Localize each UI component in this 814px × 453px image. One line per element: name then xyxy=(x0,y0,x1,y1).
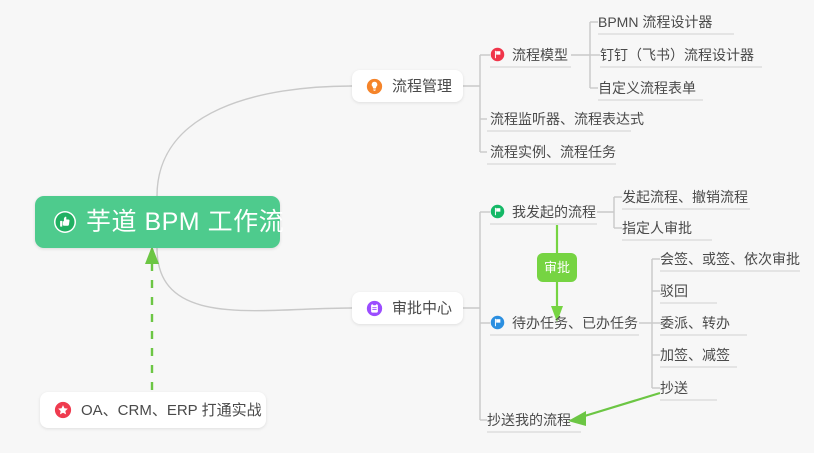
mindmap-canvas: 芋道 BPM 工作流 流程管理 流程模型 BPMN 流程设计器 钉钉（飞书）流程 xyxy=(0,0,814,453)
link-root-to-approval-center xyxy=(157,248,352,311)
node-cc-to-me-process[interactable]: 抄送我的流程 xyxy=(487,411,571,432)
node-label: 自定义流程表单 xyxy=(598,81,696,95)
node-cc[interactable]: 抄送 xyxy=(660,379,688,400)
node-bpmn-designer[interactable]: BPMN 流程设计器 xyxy=(598,13,712,34)
node-add-remove-sign[interactable]: 加签、减签 xyxy=(660,346,730,367)
root-label: 芋道 BPM 工作流 xyxy=(86,210,284,235)
node-label: 发起流程、撤销流程 xyxy=(622,190,748,204)
node-label: 指定人审批 xyxy=(622,221,692,235)
node-label: 流程监听器、流程表达式 xyxy=(490,112,644,126)
node-instance-task[interactable]: 流程实例、流程任务 xyxy=(490,143,616,164)
lightbulb-icon xyxy=(366,78,383,95)
node-delegate-transfer[interactable]: 委派、转办 xyxy=(660,314,730,335)
thumbs-up-icon xyxy=(53,210,77,234)
node-label: 会签、或签、依次审批 xyxy=(660,252,800,266)
badge-label: 审批 xyxy=(544,261,570,274)
branch-approval-center[interactable]: 审批中心 xyxy=(352,292,463,324)
flag-icon xyxy=(490,47,505,62)
node-my-started-process[interactable]: 我发起的流程 xyxy=(490,203,596,224)
node-label: 我发起的流程 xyxy=(512,205,596,219)
green-arrow-cc-line xyxy=(578,393,660,418)
node-label: 待办任务、已办任务 xyxy=(512,316,638,330)
link-root-to-process-management xyxy=(157,86,352,196)
node-custom-process-form[interactable]: 自定义流程表单 xyxy=(598,79,696,100)
branch-label: 流程管理 xyxy=(392,79,452,94)
approval-tag-badge[interactable]: 审批 xyxy=(537,253,577,282)
node-label: 抄送 xyxy=(660,381,688,395)
node-start-cancel-process[interactable]: 发起流程、撤销流程 xyxy=(622,188,748,209)
node-label: 加签、减签 xyxy=(660,348,730,362)
node-label: BPMN 流程设计器 xyxy=(598,15,712,29)
flag-icon xyxy=(490,315,505,330)
card-integration-practice[interactable]: OA、CRM、ERP 打通实战 xyxy=(40,392,266,428)
node-label: 钉钉（飞书）流程设计器 xyxy=(600,48,754,62)
branch-process-management[interactable]: 流程管理 xyxy=(352,70,463,102)
node-label: 流程模型 xyxy=(512,48,568,62)
node-label: 驳回 xyxy=(660,284,688,298)
node-label: 抄送我的流程 xyxy=(487,413,571,427)
branch-label: 审批中心 xyxy=(392,301,452,316)
node-designated-approver[interactable]: 指定人审批 xyxy=(622,219,692,240)
flag-icon xyxy=(490,204,505,219)
node-dingtalk-feishu-designer[interactable]: 钉钉（飞书）流程设计器 xyxy=(600,46,754,67)
root-node[interactable]: 芋道 BPM 工作流 xyxy=(35,196,280,248)
card-label: OA、CRM、ERP 打通实战 xyxy=(81,403,262,418)
star-icon xyxy=(54,401,72,419)
node-countersign[interactable]: 会签、或签、依次审批 xyxy=(660,250,800,271)
node-listener-expression[interactable]: 流程监听器、流程表达式 xyxy=(490,110,644,131)
node-reject[interactable]: 驳回 xyxy=(660,282,688,303)
clipboard-icon xyxy=(366,300,383,317)
node-todo-done-task[interactable]: 待办任务、已办任务 xyxy=(490,314,638,335)
node-label: 流程实例、流程任务 xyxy=(490,145,616,159)
node-process-model[interactable]: 流程模型 xyxy=(490,46,568,67)
node-label: 委派、转办 xyxy=(660,316,730,330)
